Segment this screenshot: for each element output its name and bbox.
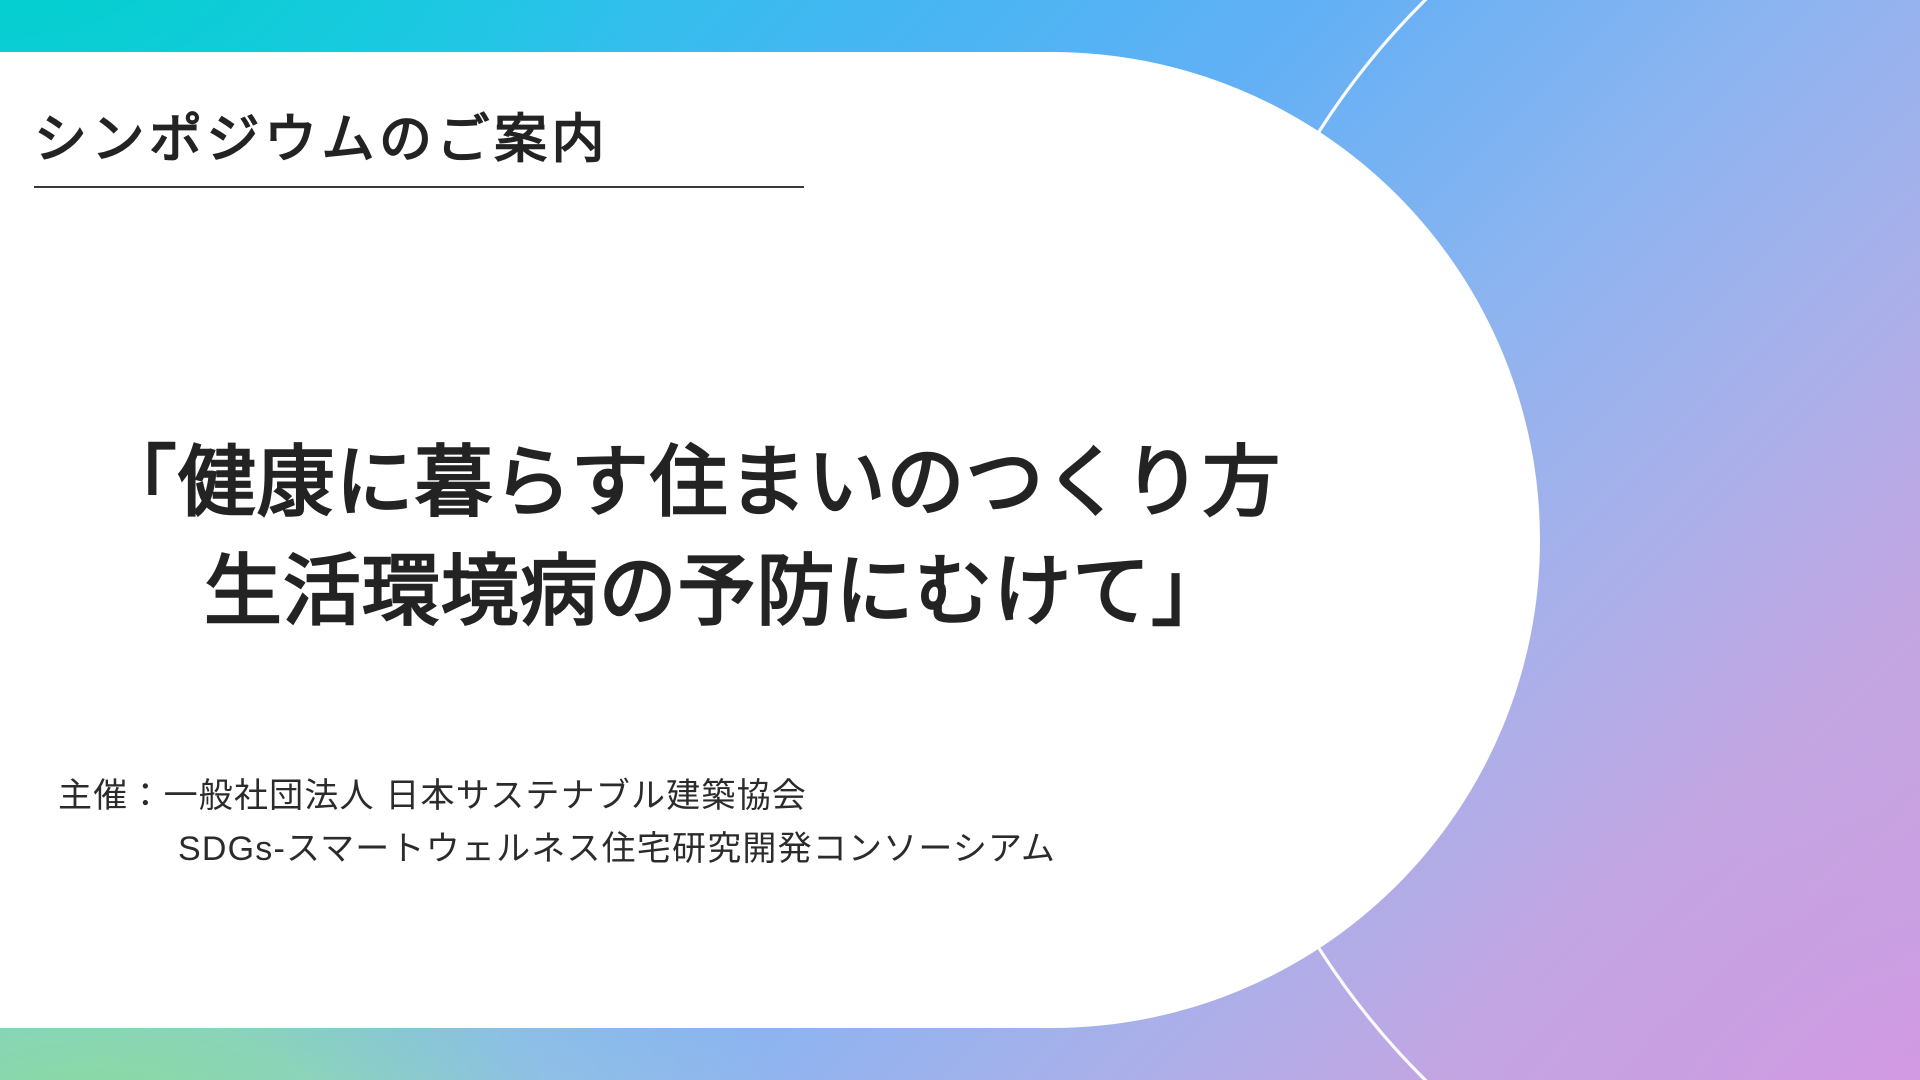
eyebrow-group: シンポジウムのご案内	[34, 108, 794, 188]
host-line-2: SDGs-スマートウェルネス住宅研究開発コンソーシアム	[58, 823, 1358, 876]
title-line-1: 「健康に暮らす住まいのつくり方	[0, 428, 1380, 537]
slide-canvas: シンポジウムのご案内 「健康に暮らす住まいのつくり方 生活環境病の予防にむけて」…	[0, 0, 1920, 1080]
host-line-1: 主催：一般社団法人 日本サステナブル建築協会	[58, 770, 1358, 823]
host-group: 主催：一般社団法人 日本サステナブル建築協会 SDGs-スマートウェルネス住宅研…	[58, 770, 1358, 876]
page-title: 「健康に暮らす住まいのつくり方 生活環境病の予防にむけて」	[0, 428, 1380, 646]
eyebrow-divider	[34, 186, 804, 188]
title-line-2: 生活環境病の予防にむけて」	[0, 537, 1380, 646]
eyebrow-label: シンポジウムのご案内	[34, 108, 794, 173]
slide-content: シンポジウムのご案内 「健康に暮らす住まいのつくり方 生活環境病の予防にむけて」…	[0, 0, 1380, 1080]
